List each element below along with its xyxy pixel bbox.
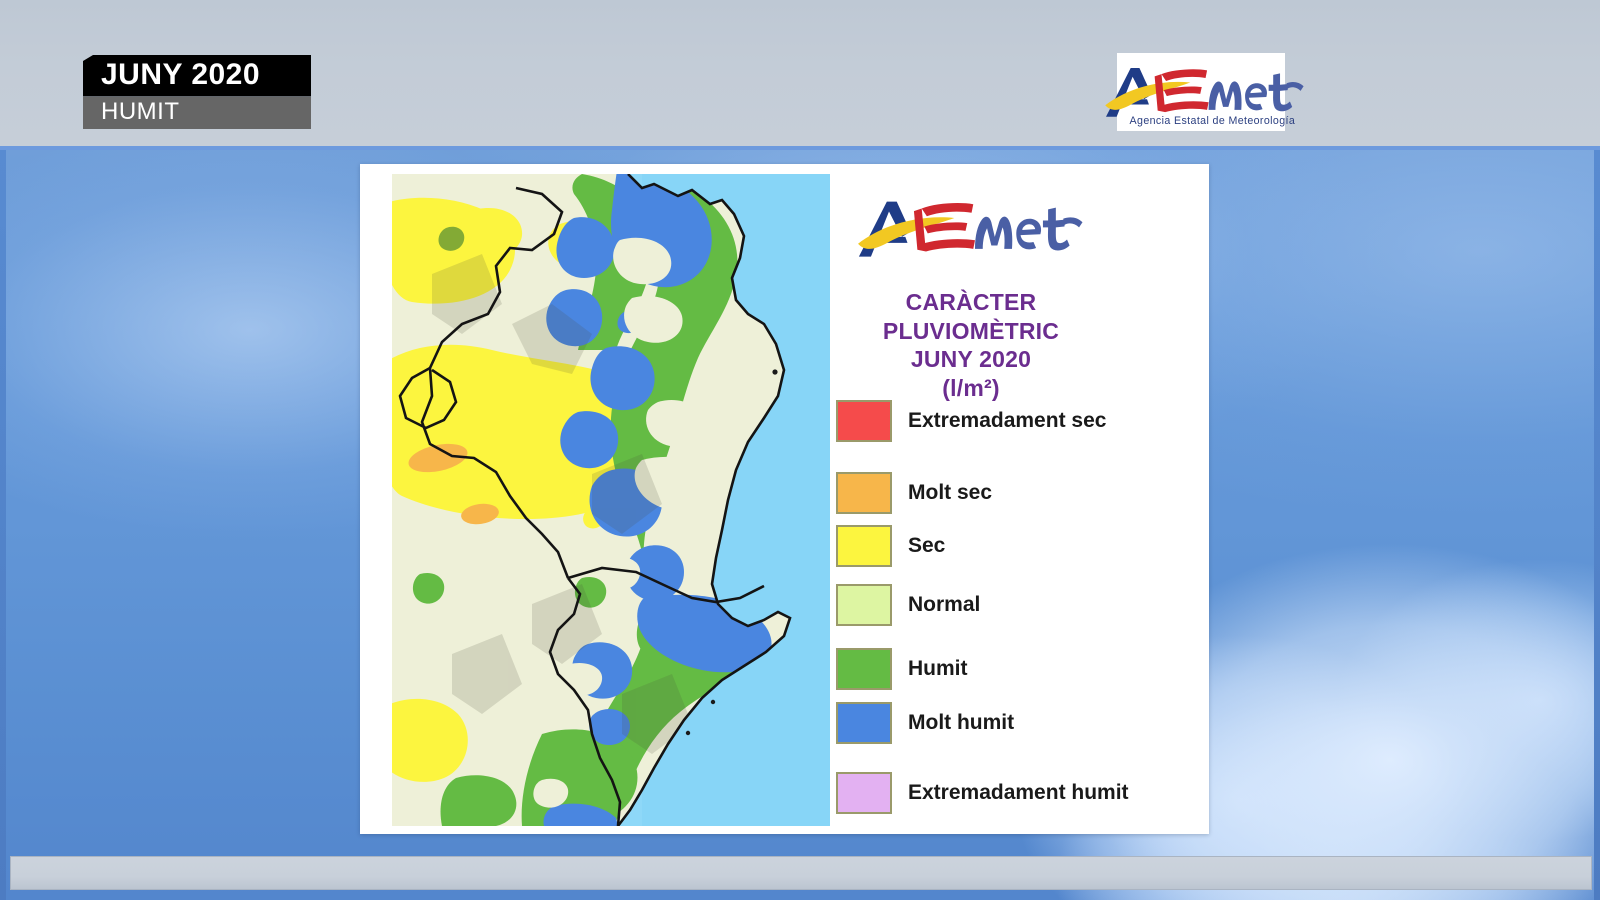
- footer-bar: [10, 856, 1592, 890]
- legend-item-sec[interactable]: Sec: [836, 525, 945, 567]
- island-marker: [772, 369, 777, 374]
- header-subtitle: HUMIT: [83, 97, 311, 129]
- legend-item-humit[interactable]: Humit: [836, 648, 968, 690]
- aemet-logo-box: Agencia Estatal de Meteorología: [1117, 53, 1285, 131]
- legend-item-normal[interactable]: Normal: [836, 584, 980, 626]
- legend-swatch-extremadament-humit: [836, 772, 892, 814]
- legend-title-line-2: PLUVIOMÈTRIC: [836, 317, 1106, 346]
- legend-label-humit: Humit: [908, 657, 968, 681]
- legend-item-extremadament-humit[interactable]: Extremadament humit: [836, 772, 1129, 814]
- header-band: JUNY 2020 HUMIT: [0, 0, 1600, 150]
- panel-aemet-logo: [846, 190, 1096, 280]
- legend-label-sec: Sec: [908, 534, 945, 558]
- content-panel: CARÀCTER PLUVIOMÈTRIC JUNY 2020 (l/m²) E…: [360, 164, 1209, 834]
- rainfall-map: [392, 174, 830, 826]
- aemet-tagline: Agencia Estatal de Meteorología: [1130, 114, 1296, 126]
- legend-label-molt-humit: Molt humit: [908, 711, 1014, 735]
- rainfall-map-svg: [392, 174, 830, 826]
- legend-title: CARÀCTER PLUVIOMÈTRIC JUNY 2020 (l/m²): [836, 288, 1106, 402]
- legend-item-extremadament-sec[interactable]: Extremadament sec: [836, 400, 1106, 442]
- island-marker: [686, 731, 690, 735]
- legend-swatch-extremadament-sec: [836, 400, 892, 442]
- panel-aemet-wordmark-svg: [846, 190, 1087, 267]
- legend-item-molt-sec[interactable]: Molt sec: [836, 472, 992, 514]
- title-block: JUNY 2020 HUMIT: [83, 55, 311, 129]
- legend-swatch-sec: [836, 525, 892, 567]
- legend-label-extremadament-sec: Extremadament sec: [908, 409, 1106, 433]
- legend-swatch-molt-humit: [836, 702, 892, 744]
- legend-label-molt-sec: Molt sec: [908, 481, 992, 505]
- legend-swatch-humit: [836, 648, 892, 690]
- legend-title-line-3: JUNY 2020: [836, 345, 1106, 374]
- legend-swatch-normal: [836, 584, 892, 626]
- slide-stage: JUNY 2020 HUMIT: [0, 0, 1600, 900]
- legend-label-normal: Normal: [908, 593, 980, 617]
- legend-label-extremadament-humit: Extremadament humit: [908, 781, 1129, 805]
- header-title: JUNY 2020: [83, 55, 311, 97]
- aemet-logo-icon: Agencia Estatal de Meteorología: [1095, 60, 1308, 125]
- legend-title-line-4: (l/m²): [836, 374, 1106, 403]
- legend-swatch-molt-sec: [836, 472, 892, 514]
- legend-panel: CARÀCTER PLUVIOMÈTRIC JUNY 2020 (l/m²) E…: [836, 176, 1206, 826]
- legend-title-line-1: CARÀCTER: [836, 288, 1106, 317]
- island-marker: [711, 700, 715, 704]
- legend-item-molt-humit[interactable]: Molt humit: [836, 702, 1014, 744]
